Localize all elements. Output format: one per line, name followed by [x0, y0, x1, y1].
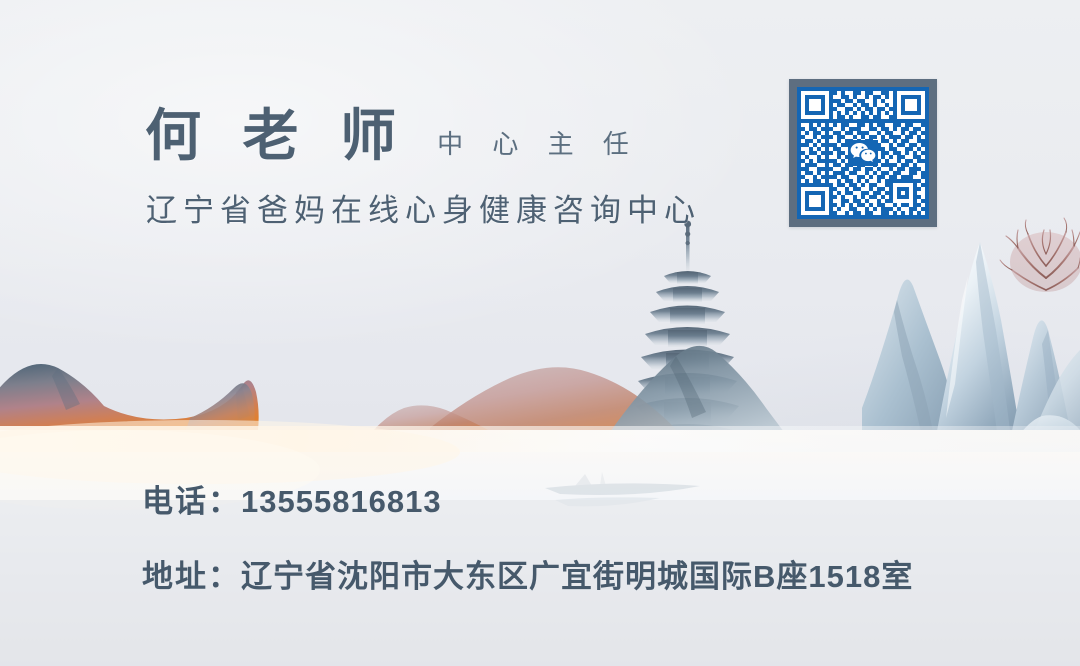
name-row: 何 老 师 中 心 主 任 [145, 108, 640, 164]
organization-name: 辽宁省爸妈在线心身健康咨询中心 [146, 192, 701, 229]
wechat-icon [848, 140, 878, 166]
wechat-qr-code[interactable] [789, 79, 937, 227]
business-card: 何 老 师 中 心 主 任 辽宁省爸妈在线心身健康咨询中心 电话：1355581… [0, 0, 1080, 666]
qr-modules [797, 87, 929, 219]
person-role: 中 心 主 任 [437, 131, 640, 164]
phone-value[interactable]: 13555816813 [241, 484, 442, 519]
phone-row: 电话：13555816813 [142, 483, 442, 522]
address-label: 地址： [142, 559, 241, 594]
person-name: 何 老 师 [145, 108, 409, 164]
address-row: 地址：辽宁省沈阳市大东区广宜街明城国际B座1518室 [142, 558, 913, 597]
phone-label: 电话： [142, 484, 241, 519]
address-value: 辽宁省沈阳市大东区广宜街明城国际B座1518室 [241, 559, 913, 594]
